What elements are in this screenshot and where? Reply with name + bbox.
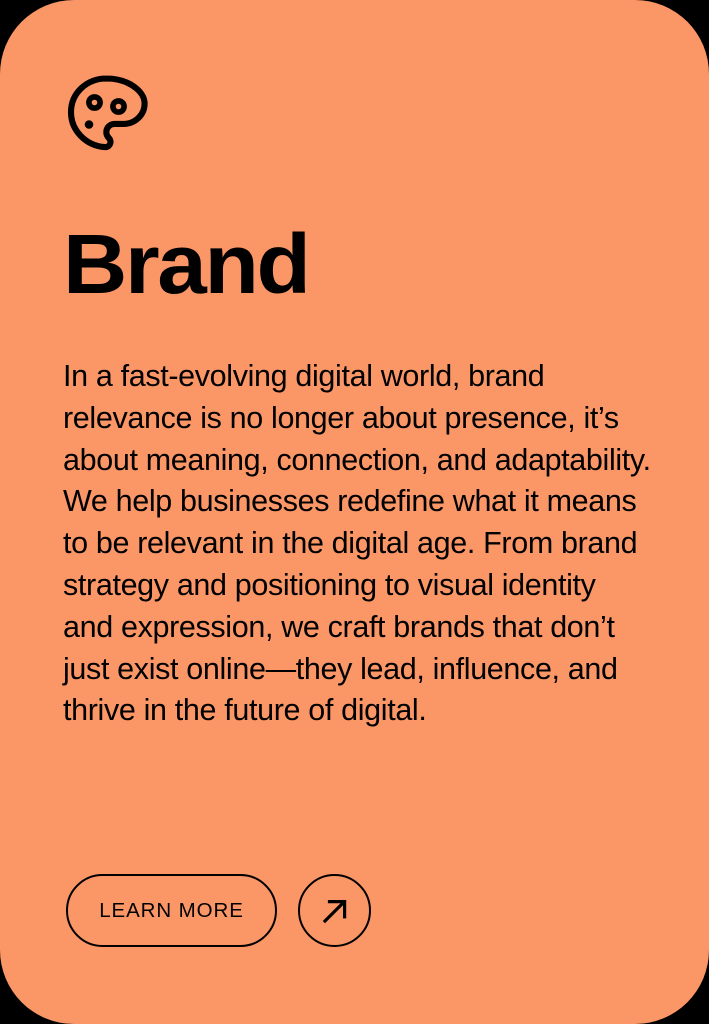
brand-card: Brand In a fast-evolving digital world, …: [0, 0, 709, 1024]
learn-more-button[interactable]: LEARN MORE: [66, 874, 277, 947]
palette-icon: [65, 74, 149, 152]
card-actions: LEARN MORE: [66, 874, 371, 947]
body-paragraph: In a fast-evolving digital world, brand …: [63, 356, 653, 732]
arrow-up-right-button[interactable]: [298, 874, 371, 947]
arrow-up-right-icon: [316, 892, 354, 930]
page-title: Brand: [63, 222, 309, 306]
palette-icon-glyph: [65, 74, 149, 152]
